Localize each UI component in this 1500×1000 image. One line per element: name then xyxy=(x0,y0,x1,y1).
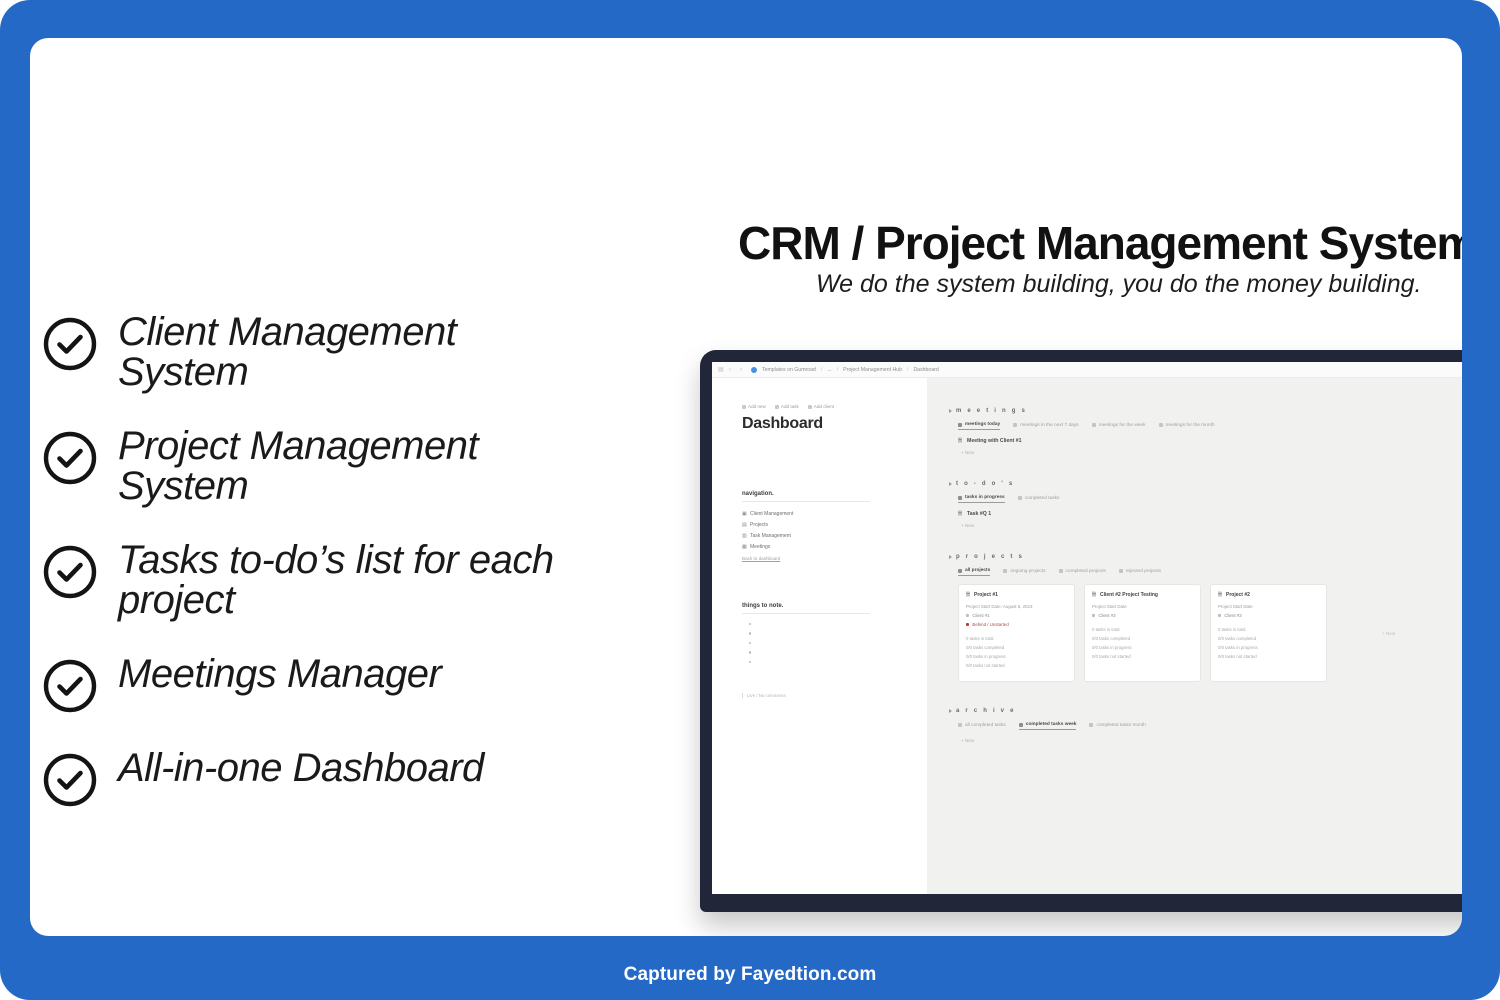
tab-completed-projects[interactable]: completed projects xyxy=(1059,569,1106,576)
tab-label: completed tasks month xyxy=(1096,723,1145,728)
list-item-label: All-in-one Dashboard xyxy=(118,744,484,788)
breadcrumb-separator: / xyxy=(837,367,838,373)
breadcrumb-separator: / xyxy=(907,367,908,373)
breadcrumb-item[interactable]: ... xyxy=(827,367,831,373)
gallery-icon xyxy=(1003,569,1007,573)
sidebar-footer: Live / No comments xyxy=(742,693,927,698)
section-archive: a r c h i v e all completed tasks comple… xyxy=(949,708,1462,743)
project-client: Client #3 xyxy=(1218,613,1319,618)
tab-all-projects[interactable]: all projects xyxy=(958,568,990,576)
view-icon xyxy=(958,496,962,500)
gallery-icon xyxy=(958,569,962,573)
view-icon xyxy=(1018,496,1022,500)
bullet-icon xyxy=(749,632,751,634)
chevron-right-icon[interactable] xyxy=(949,555,952,559)
slide-card: Client Management System Project Managem… xyxy=(30,38,1462,936)
bullet-icon xyxy=(749,661,751,663)
project-client: Client #2 xyxy=(1092,613,1193,618)
gallery-icon xyxy=(1059,569,1063,573)
meetings-icon: ▦ xyxy=(742,545,747,550)
project-start-date: Project Start Date: August 6, 2023 xyxy=(966,604,1067,609)
client-icon: ▣ xyxy=(742,512,747,517)
project-card-title-row: 🗎 Client #2 Project Testing xyxy=(1092,592,1193,598)
view-icon xyxy=(958,723,962,727)
projects-icon: ▤ xyxy=(742,523,747,528)
tab-completed-tasks[interactable]: completed tasks xyxy=(1018,496,1060,503)
tab-all-completed-tasks[interactable]: all completed tasks xyxy=(958,723,1006,730)
new-card-button[interactable]: + New xyxy=(1382,631,1395,636)
circle-check-icon xyxy=(42,752,98,808)
project-card-gallery: 🗎 Project #1 Project Start Date: August … xyxy=(958,584,1462,682)
client-icon xyxy=(966,614,969,617)
sidebar-item-label: Projects xyxy=(750,522,768,528)
section-projects: p r o j e c t s all projects ongoing pro… xyxy=(949,554,1462,682)
circle-check-icon xyxy=(42,430,98,486)
chevron-right-icon[interactable] xyxy=(949,409,952,413)
laptop-mockup: ▤ ‹ › Templates on Gumroad / ... / Proje… xyxy=(700,350,1462,912)
feature-checklist: Client Management System Project Managem… xyxy=(42,308,602,838)
section-heading-label: p r o j e c t s xyxy=(956,554,1024,560)
add-icon xyxy=(742,405,746,409)
page-subtitle: We do the system building, you do the mo… xyxy=(816,270,1421,299)
list-item[interactable] xyxy=(742,661,927,663)
tab-completed-tasks-week[interactable]: completed tasks week xyxy=(1019,722,1077,730)
add-icon xyxy=(808,405,812,409)
view-icon xyxy=(1092,423,1096,427)
quick-action-add-new[interactable]: Add new xyxy=(742,404,766,409)
project-stat: 0 tasks in total xyxy=(1092,627,1193,632)
page-title: CRM / Project Management System xyxy=(738,216,1462,270)
list-item[interactable] xyxy=(742,632,927,634)
project-card-title: Project #1 xyxy=(974,592,998,598)
project-card[interactable]: 🗎 Project #2 Project Start Date Client #… xyxy=(1210,584,1327,682)
tab-list: all completed tasks completed tasks week… xyxy=(958,722,1462,730)
sidebar-item-meetings[interactable]: ▦ Meetings xyxy=(742,544,927,550)
project-stat: 0/0 tasks completed xyxy=(1218,636,1319,641)
client-icon xyxy=(1218,614,1221,617)
dashboard-content: m e e t i n g s meetings today meetings … xyxy=(927,378,1462,894)
sidebar-item-client-management[interactable]: ▣ Client Management xyxy=(742,511,927,517)
tab-list: meetings today meetings in the next 7 da… xyxy=(958,422,1462,430)
project-client-label: Client #3 xyxy=(1224,613,1241,618)
project-card[interactable]: 🗎 Client #2 Project Testing Project Star… xyxy=(1084,584,1201,682)
project-stat: 0/0 tasks in progress xyxy=(1218,645,1319,650)
list-item-label: Client Management System xyxy=(118,308,588,392)
tab-meetings-next-7-days[interactable]: meetings in the next 7 days xyxy=(1013,423,1078,430)
tab-label: meetings in the next 7 days xyxy=(1020,423,1078,428)
dashboard-page: Add new Add task Add client Dashb xyxy=(712,378,1462,894)
sidebar-item-label: Task Management xyxy=(750,533,791,539)
tab-rejected-projects[interactable]: rejected projects xyxy=(1119,569,1161,576)
tab-label: completed tasks week xyxy=(1026,722,1077,727)
breadcrumb-item[interactable]: Dashboard xyxy=(913,367,938,373)
task-icon: ▥ xyxy=(742,534,747,539)
gallery-icon xyxy=(1119,569,1123,573)
project-card-title-row: 🗎 Project #2 xyxy=(1218,592,1319,598)
tab-meetings-week[interactable]: meetings for the week xyxy=(1092,423,1146,430)
quick-action-add-client[interactable]: Add client xyxy=(808,404,834,409)
tab-label: completed tasks xyxy=(1025,496,1060,501)
quick-action-add-task[interactable]: Add task xyxy=(775,404,799,409)
browser-chrome: ▤ ‹ › Templates on Gumroad / ... / Proje… xyxy=(712,362,1462,378)
list-item: Project Management System xyxy=(42,422,602,506)
project-client-label: Client #1 xyxy=(972,613,989,618)
list-item-label: Meetings Manager xyxy=(118,650,441,694)
chevron-right-icon[interactable] xyxy=(949,482,952,486)
tab-label: meetings for the month xyxy=(1166,423,1215,428)
tab-meetings-month[interactable]: meetings for the month xyxy=(1159,423,1215,430)
chevron-right-icon[interactable] xyxy=(949,709,952,713)
new-row-button[interactable]: + New xyxy=(961,450,1462,455)
project-start-date: Project Start Date xyxy=(1092,604,1193,609)
project-stat: 0 tasks in total xyxy=(1218,627,1319,632)
section-heading-label: a r c h i v e xyxy=(956,708,1016,714)
project-stat: 0/0 tasks completed xyxy=(1092,636,1193,641)
list-item-label: Project Management System xyxy=(118,422,588,506)
tab-label: meetings for the week xyxy=(1099,423,1146,428)
list-item[interactable] xyxy=(742,642,927,644)
list-item-label: Tasks to-do’s list for each project xyxy=(118,536,588,620)
capture-caption: Captured by Fayedtion.com xyxy=(0,964,1500,986)
list-item: All-in-one Dashboard xyxy=(42,744,602,808)
tab-label: tasks in progress xyxy=(965,495,1005,500)
slide-frame: Client Management System Project Managem… xyxy=(0,0,1500,1000)
doc-icon: 🗎 xyxy=(966,593,971,598)
list-item-label: Meeting with Client #1 xyxy=(967,438,1021,444)
project-stats: 0 tasks in total 0/0 tasks completed 0/0… xyxy=(966,636,1067,668)
quick-action-label: Add task xyxy=(781,404,799,409)
status-badge: Behind / Unstarted xyxy=(966,622,1067,627)
tab-label: completed projects xyxy=(1066,569,1106,574)
dashboard-title: Dashboard xyxy=(742,415,927,433)
tab-meetings-today[interactable]: meetings today xyxy=(958,422,1000,430)
back-arrow-icon[interactable]: ‹ xyxy=(729,367,735,373)
notes-heading: things to note. xyxy=(742,603,870,614)
list-item[interactable] xyxy=(742,651,927,653)
project-card[interactable]: 🗎 Project #1 Project Start Date: August … xyxy=(958,584,1075,682)
project-stat: 0/0 tasks not started xyxy=(1092,654,1193,659)
circle-check-icon xyxy=(42,544,98,600)
section-meetings: m e e t i n g s meetings today meetings … xyxy=(949,408,1462,455)
view-icon xyxy=(1013,423,1017,427)
section-todos: t o - d o ' s tasks in progress complete… xyxy=(949,481,1462,528)
list-item[interactable] xyxy=(742,623,927,625)
tab-list: tasks in progress completed tasks xyxy=(958,495,1462,503)
list-item: Client Management System xyxy=(42,308,602,392)
sidebar-item-label: Meetings xyxy=(750,544,770,550)
doc-icon: 🗎 xyxy=(958,512,963,517)
bullet-icon xyxy=(749,642,751,644)
sidebar-item-projects[interactable]: ▤ Projects xyxy=(742,522,927,528)
tab-label: all completed tasks xyxy=(965,723,1006,728)
new-row-button[interactable]: + New xyxy=(961,738,1462,743)
nav-heading: navigation. xyxy=(742,491,870,502)
client-icon xyxy=(1092,614,1095,617)
quick-action-label: Add new xyxy=(748,404,766,409)
sidebar-item-label: Client Management xyxy=(750,511,793,517)
breadcrumb-item[interactable]: Templates on Gumroad xyxy=(762,367,816,373)
bullet-icon xyxy=(749,651,751,653)
tab-label: ongoing projects xyxy=(1010,569,1045,574)
list-item[interactable]: 🗎 Meeting with Client #1 xyxy=(958,438,1462,444)
breadcrumb-item[interactable]: Project Management Hub xyxy=(843,367,902,373)
breadcrumb-separator: / xyxy=(821,367,822,373)
laptop-screen: ▤ ‹ › Templates on Gumroad / ... / Proje… xyxy=(712,362,1462,894)
favicon-icon xyxy=(751,367,757,373)
view-icon xyxy=(958,423,962,427)
section-heading-label: m e e t i n g s xyxy=(956,408,1027,414)
view-icon xyxy=(1089,723,1093,727)
section-heading: m e e t i n g s xyxy=(949,408,1462,414)
things-to-note-block: things to note. xyxy=(742,603,927,663)
bullet-icon xyxy=(749,623,751,625)
project-stat: 0/0 tasks not started xyxy=(1218,654,1319,659)
project-stats: 0 tasks in total 0/0 tasks completed 0/0… xyxy=(1218,627,1319,659)
sidebar-icon[interactable]: ▤ xyxy=(718,367,724,373)
project-stat: 0 tasks in total xyxy=(966,636,1067,641)
tab-tasks-in-progress[interactable]: tasks in progress xyxy=(958,495,1005,503)
list-item[interactable]: 🗎 Task #Q 1 xyxy=(958,511,1462,517)
circle-check-icon xyxy=(42,316,98,372)
section-heading: a r c h i v e xyxy=(949,708,1462,714)
tab-list: all projects ongoing projects completed … xyxy=(958,568,1462,576)
dashboard-sidebar: Add new Add task Add client Dashb xyxy=(712,378,927,894)
status-icon xyxy=(966,623,969,626)
forward-arrow-icon[interactable]: › xyxy=(740,367,746,373)
project-card-title-row: 🗎 Project #1 xyxy=(966,592,1067,598)
back-to-dashboard-link[interactable]: Back to dashboard xyxy=(742,556,927,561)
quick-actions: Add new Add task Add client xyxy=(742,404,927,409)
view-icon xyxy=(1159,423,1163,427)
list-item: Tasks to-do’s list for each project xyxy=(42,536,602,620)
tab-label: meetings today xyxy=(965,422,1000,427)
view-icon xyxy=(1019,723,1023,727)
sidebar-item-task-management[interactable]: ▥ Task Management xyxy=(742,533,927,539)
section-heading: p r o j e c t s xyxy=(949,554,1462,560)
project-stat: 0/0 tasks completed xyxy=(966,645,1067,650)
tab-label: all projects xyxy=(965,568,990,573)
new-row-button[interactable]: + New xyxy=(961,523,1462,528)
project-start-date: Project Start Date xyxy=(1218,604,1319,609)
project-stat: 0/0 tasks in progress xyxy=(966,654,1067,659)
project-client: Client #1 xyxy=(966,613,1067,618)
doc-icon: 🗎 xyxy=(958,439,963,444)
project-stats: 0 tasks in total 0/0 tasks completed 0/0… xyxy=(1092,627,1193,659)
add-icon xyxy=(775,405,779,409)
list-item-label: Task #Q 1 xyxy=(967,511,991,517)
tab-label: rejected projects xyxy=(1126,569,1161,574)
doc-icon: 🗎 xyxy=(1092,593,1097,598)
project-client-label: Client #2 xyxy=(1098,613,1115,618)
circle-check-icon xyxy=(42,658,98,714)
section-heading-label: t o - d o ' s xyxy=(956,481,1014,487)
doc-icon: 🗎 xyxy=(1218,593,1223,598)
project-card-title: Client #2 Project Testing xyxy=(1100,592,1158,598)
project-stat: 0/0 tasks not started xyxy=(966,663,1067,668)
project-card-title: Project #2 xyxy=(1226,592,1250,598)
quick-action-label: Add client xyxy=(814,404,834,409)
section-heading: t o - d o ' s xyxy=(949,481,1462,487)
tab-completed-tasks-month[interactable]: completed tasks month xyxy=(1089,723,1145,730)
list-item: Meetings Manager xyxy=(42,650,602,714)
status-badge-label: Behind / Unstarted xyxy=(972,622,1008,627)
project-stat: 0/0 tasks in progress xyxy=(1092,645,1193,650)
tab-ongoing-projects[interactable]: ongoing projects xyxy=(1003,569,1045,576)
